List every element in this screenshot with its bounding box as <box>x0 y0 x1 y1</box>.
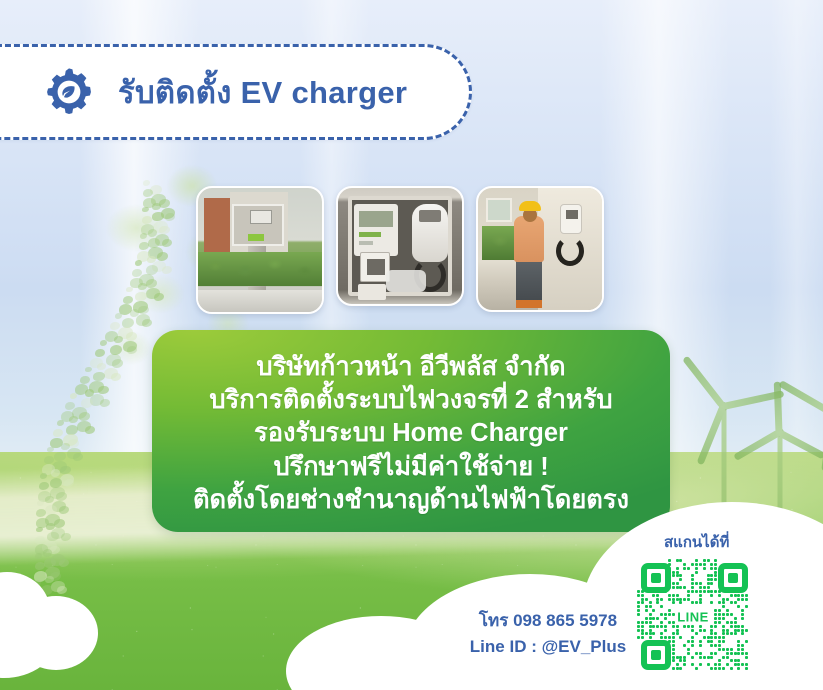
page-title: รับติดตั้ง EV charger <box>118 77 407 108</box>
promo-line: บริการติดตั้งระบบไฟวงจรที่ 2 สำหรับ <box>209 384 612 417</box>
wind-turbine-icon <box>792 398 823 544</box>
charger-cabinet-interior-photo <box>336 186 464 306</box>
qr-line-brand-label: LINE <box>672 609 714 626</box>
promo-line: ปรึกษาฟรีไม่มีค่าใช้จ่าย ! <box>273 451 549 484</box>
promo-message-card: บริษัทก้าวหน้า อีวีพลัส จำกัด บริการติดต… <box>152 330 670 532</box>
ev-charger-promo-poster: รับติดตั้ง EV charger บริษัทก้าวหน้า อีว… <box>0 0 823 690</box>
promo-line: รองรับระบบ Home Charger <box>254 417 568 450</box>
phone-number[interactable]: โทร 098 865 5978 <box>448 608 648 634</box>
photo-gallery <box>196 186 662 316</box>
line-id[interactable]: Line ID : @EV_Plus <box>448 634 648 660</box>
outdoor-ev-charger-cabinet-photo <box>196 186 324 314</box>
contact-info: โทร 098 865 5978 Line ID : @EV_Plus <box>448 608 648 661</box>
header-banner: รับติดตั้ง EV charger <box>0 44 472 140</box>
promo-line: บริษัทก้าวหน้า อีวีพลัส จำกัด <box>256 351 565 384</box>
line-qr-code[interactable]: LINE <box>634 556 752 678</box>
technician-installing-charger-photo <box>476 186 604 312</box>
gear-leaf-icon <box>42 65 96 119</box>
promo-line: ติดตั้งโดยช่างชำนาญด้านไฟฟ้าโดยตรง <box>193 484 629 517</box>
scan-here-label: สแกนได้ที่ <box>664 530 729 554</box>
